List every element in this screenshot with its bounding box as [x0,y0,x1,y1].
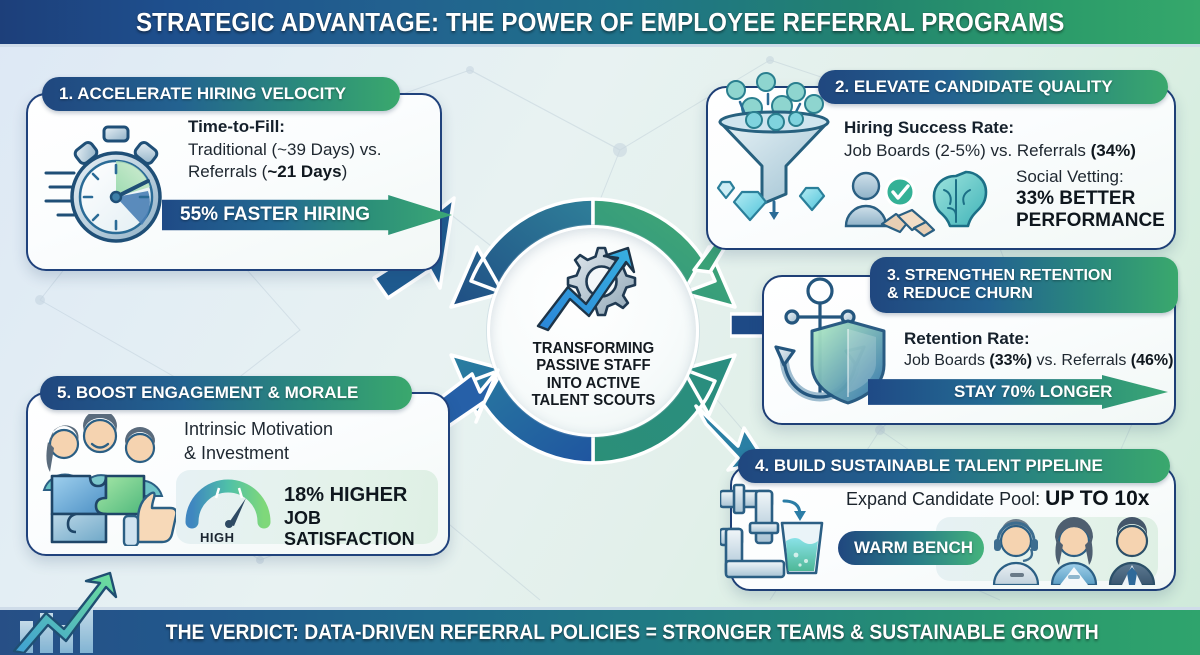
card-1-stat-label: Time-to-Fill: [188,117,285,137]
card-4-stat-plain: Expand Candidate Pool: [846,489,1045,509]
infographic-canvas: STRATEGIC ADVANTAGE: THE POWER OF EMPLOY… [0,0,1200,655]
card-3-stat-plain-a: Job Boards [904,352,989,369]
card-2-sub-label: Social Vetting: [1016,166,1124,188]
card-boost-engagement-morale[interactable]: 5. BOOST ENGAGEMENT & MORALE [26,392,450,556]
footer-verdict-text: THE VERDICT: DATA-DRIVEN REFERRAL POLICI… [101,621,1098,645]
card-3-stat-label: Retention Rate: [904,329,1030,349]
footer-bar: THE VERDICT: DATA-DRIVEN REFERRAL POLICI… [0,607,1200,655]
card-elevate-candidate-quality[interactable]: 2. ELEVATE CANDIDATE QUALITY [706,86,1176,250]
card-5-gauge-label: HIGH [200,530,235,545]
card-2-sub-value-line-2: PERFORMANCE [1016,210,1165,232]
page-title: STRATEGIC ADVANTAGE: THE POWER OF EMPLOY… [136,7,1064,38]
card-2-sub-value-line-1: 33% BETTER [1016,188,1135,210]
card-1-banner-55-faster-hiring: 55% FASTER HIRING [162,195,452,235]
card-3-banner-stay-70-longer: STAY 70% LONGER [868,375,1168,409]
card-5-value-line-2: JOB SATISFACTION [284,508,448,550]
card-4-warm-bench-badge: WARM BENCH [838,531,984,565]
person-check-handshake-brain-icon [840,166,1010,244]
card-1-banner-text: 55% FASTER HIRING [162,204,370,226]
center-hub-disc: TRANSFORMING PASSIVE STAFF INTO ACTIVE T… [487,225,699,437]
card-4-badge-text: WARM BENCH [854,538,973,558]
center-hub-text: TRANSFORMING PASSIVE STAFF INTO ACTIVE T… [531,340,655,409]
card-2-stat-line-1-bold: (34%) [1091,141,1136,160]
team-puzzle-thumbsup-icon [42,414,184,546]
card-1-stat-line-2-bold: ~21 Days [267,162,341,181]
card-1-stat-line-2-plain: Referrals ( [188,162,267,181]
card-accelerate-hiring-velocity[interactable]: 1. ACCELERATE HIRING VELOCITY [26,93,442,271]
gear-growth-arrow-icon [534,240,652,336]
card-4-stat-bold: UP TO 10x [1045,487,1149,510]
card-5-value-line-1: 18% HIGHER [284,484,407,507]
card-1-stat-line-2-tail: ) [342,162,348,181]
card-2-stat-line-1-plain: Job Boards (2-5%) vs. Referrals [844,141,1091,160]
card-build-sustainable-talent-pipeline[interactable]: 4. BUILD SUSTAINABLE TALENT PIPELINE [730,465,1176,591]
card-3-stat-plain-b: vs. Referrals [1032,352,1131,369]
card-3-banner-text: STAY 70% LONGER [868,382,1112,402]
card-5-stat-line-1: Intrinsic Motivation [184,418,333,441]
stopwatch-icon [44,121,184,251]
center-hub: TRANSFORMING PASSIVE STAFF INTO ACTIVE T… [443,181,743,481]
pipeline-beaker-icon [720,477,838,589]
card-5-stat-line-2: & Investment [184,442,289,465]
header-bar: STRATEGIC ADVANTAGE: THE POWER OF EMPLOY… [0,0,1200,47]
card-1-stat-line-1: Traditional (~39 Days) vs. [188,140,382,159]
funnel-diamonds-icon [704,70,844,230]
card-2-stat-label: Hiring Success Rate: [844,118,1014,138]
card-strengthen-retention[interactable]: 3. STRENGTHEN RETENTION & REDUCE CHURN [762,275,1176,425]
card-3-stat-bold-a: (33%) [989,352,1032,369]
card-3-stat-bold-b: (46%) [1131,352,1174,369]
